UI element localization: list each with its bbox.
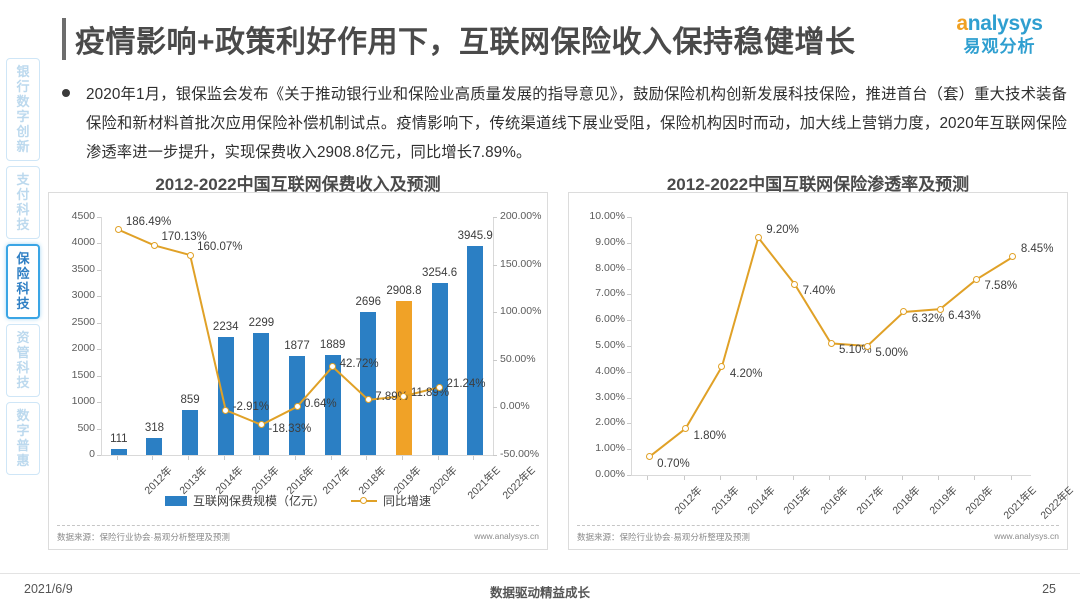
line-value-label-6: 42.72%	[340, 358, 379, 370]
analysys-logo: analysys 易观分析	[937, 12, 1062, 57]
sidebar-item-char: 管	[7, 345, 39, 360]
legend-swatch-bar	[165, 496, 187, 506]
sidebar-item-char: 科	[7, 202, 39, 217]
source-url: www.analysys.cn	[474, 531, 539, 543]
chart-source-penetration: 数据来源：保险行业协会·易观分析整理及预测 www.analysys.cn	[577, 525, 1059, 543]
chart-plot-penetration: 0.00%1.00%2.00%3.00%4.00%5.00%6.00%7.00%…	[569, 193, 1067, 549]
penetration-line	[569, 193, 1069, 513]
slide-footer: 2021/6/9 数据驱动精益成长 25	[0, 573, 1080, 608]
line-value-label-2: 160.07%	[197, 241, 242, 253]
sidebar-item-char: 新	[7, 139, 39, 154]
sidebar-item-char: 资	[7, 330, 39, 345]
sidebar-item-char: 科	[7, 360, 39, 375]
line-value-label-9: 21.24%	[447, 378, 486, 390]
line-value-label-0: 186.49%	[126, 216, 171, 228]
sidebar-item-char: 付	[7, 187, 39, 202]
bullet-dot-icon	[62, 89, 70, 97]
sidebar-item-char: 普	[7, 438, 39, 453]
source-url: www.analysys.cn	[994, 531, 1059, 543]
bullet-paragraph: 2020年1月，银保监会发布《关于推动银行业和保险业高质量发展的指导意见》，鼓励…	[62, 80, 1067, 167]
sidebar-item-char: 技	[8, 296, 38, 311]
source-text: 数据来源：保险行业协会·易观分析整理及预测	[577, 531, 750, 543]
sidebar-item-char: 保	[8, 251, 38, 266]
legend-item-line[interactable]: 同比增速	[351, 492, 431, 509]
chart-panel-penetration: 0.00%1.00%2.00%3.00%4.00%5.00%6.00%7.00%…	[568, 192, 1068, 550]
line-value-label-8: 11.89%	[411, 387, 449, 399]
sidebar-item-char: 数	[7, 408, 39, 423]
line-point-3[interactable]	[755, 234, 762, 241]
chart-source-premium: 数据来源：保险行业协会·易观分析整理及预测 www.analysys.cn	[57, 525, 539, 543]
sidebar-item-char: 银	[7, 64, 39, 79]
sidebar-item-char: 数	[7, 94, 39, 109]
line-value-label-8: 6.43%	[948, 310, 981, 322]
legend-swatch-line	[351, 496, 377, 506]
sidebar-nav: 银行数字创新支付科技保险科技资管科技数字普惠	[6, 58, 44, 480]
sidebar-item-0[interactable]: 银行数字创新	[6, 58, 40, 161]
line-value-label-7: 6.32%	[912, 313, 945, 325]
line-point-4[interactable]	[791, 281, 798, 288]
line-value-label-2: 4.20%	[730, 368, 763, 380]
line-value-label-6: 5.00%	[875, 347, 908, 359]
line-point-6[interactable]	[864, 343, 871, 350]
line-point-9[interactable]	[436, 384, 443, 391]
footer-page-number: 25	[1042, 582, 1056, 596]
sidebar-item-char: 惠	[7, 453, 39, 468]
logo-wordmark: analysys	[937, 12, 1062, 36]
slide-header: 疫情影响+政策利好作用下，互联网保险收入保持稳健增长 analysys 易观分析	[0, 0, 1080, 72]
footer-slogan: 数据驱动精益成长	[0, 582, 1080, 601]
logo-a-glyph: a	[956, 12, 967, 35]
sidebar-item-char: 科	[8, 281, 38, 296]
title-accent-bar	[62, 18, 66, 60]
sidebar-item-4[interactable]: 数字普惠	[6, 402, 40, 475]
legend-label-bar: 互联网保费规模（亿元）	[193, 492, 325, 509]
legend-label-line: 同比增速	[383, 492, 431, 509]
legend-item-bar[interactable]: 互联网保费规模（亿元）	[165, 492, 325, 509]
line-point-9[interactable]	[973, 276, 980, 283]
line-point-8[interactable]	[400, 393, 407, 400]
logo-wordmark-rest: nalysys	[968, 12, 1043, 35]
sidebar-item-char: 创	[7, 124, 39, 139]
line-point-1[interactable]	[151, 242, 158, 249]
sidebar-item-char: 技	[7, 375, 39, 390]
page-title: 疫情影响+政策利好作用下，互联网保险收入保持稳健增长	[75, 17, 856, 61]
line-point-2[interactable]	[187, 252, 194, 259]
bullet-paragraph-text: 2020年1月，银保监会发布《关于推动银行业和保险业高质量发展的指导意见》，鼓励…	[86, 80, 1067, 167]
chart-legend-premium: 互联网保费规模（亿元）同比增速	[49, 492, 547, 509]
line-value-label-9: 7.58%	[984, 280, 1017, 292]
line-value-label-3: -2.91%	[233, 401, 269, 413]
line-point-8[interactable]	[937, 306, 944, 313]
sidebar-item-3[interactable]: 资管科技	[6, 324, 40, 397]
logo-subtitle: 易观分析	[937, 37, 1062, 57]
line-point-3[interactable]	[222, 407, 229, 414]
line-value-label-3: 9.20%	[766, 224, 799, 236]
sidebar-item-char: 技	[7, 217, 39, 232]
growth-line	[49, 193, 549, 493]
sidebar-item-char: 险	[8, 266, 38, 281]
chart-panel-premium: 050010001500200025003000350040004500-50.…	[48, 192, 548, 550]
line-value-label-5: 0.64%	[304, 398, 337, 410]
line-value-label-0: 0.70%	[657, 458, 690, 470]
line-value-label-10: 8.45%	[1021, 243, 1054, 255]
sidebar-item-char: 行	[7, 79, 39, 94]
sidebar-item-2[interactable]: 保险科技	[6, 244, 40, 319]
line-value-label-4: -18.33%	[268, 423, 311, 435]
line-point-5[interactable]	[294, 403, 301, 410]
line-point-5[interactable]	[828, 340, 835, 347]
line-value-label-4: 7.40%	[803, 285, 836, 297]
sidebar-item-char: 字	[7, 109, 39, 124]
sidebar-item-char: 支	[7, 172, 39, 187]
line-value-label-1: 1.80%	[694, 430, 727, 442]
slide-root: 疫情影响+政策利好作用下，互联网保险收入保持稳健增长 analysys 易观分析…	[0, 0, 1080, 608]
sidebar-item-1[interactable]: 支付科技	[6, 166, 40, 239]
source-text: 数据来源：保险行业协会·易观分析整理及预测	[57, 531, 230, 543]
sidebar-item-char: 字	[7, 423, 39, 438]
